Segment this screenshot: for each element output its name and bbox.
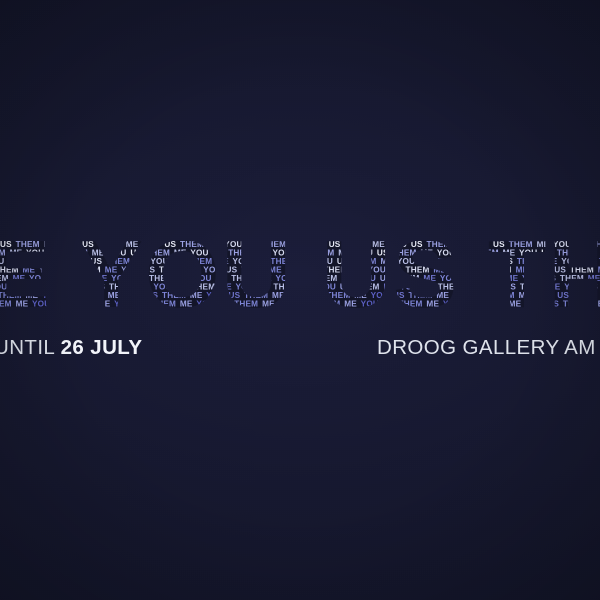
headline-band: US THEM ME YOU US THEM ME YOU US THEM ME… xyxy=(0,239,600,323)
caption-row: UNTIL 26 JULY DROOG GALLERY AM xyxy=(0,336,600,362)
poster-canvas: US THEM ME YOU US THEM ME YOU US THEM ME… xyxy=(0,0,600,600)
venue-name: DROOG GALLERY AM xyxy=(377,336,596,360)
headline-letterform-mask: US THEM ME YOU US THEM ME YOU US THEM ME… xyxy=(0,239,600,323)
exhibition-dates: UNTIL 26 JULY xyxy=(0,336,142,360)
until-label: UNTIL xyxy=(0,336,61,359)
until-date: 26 JULY xyxy=(61,336,143,359)
